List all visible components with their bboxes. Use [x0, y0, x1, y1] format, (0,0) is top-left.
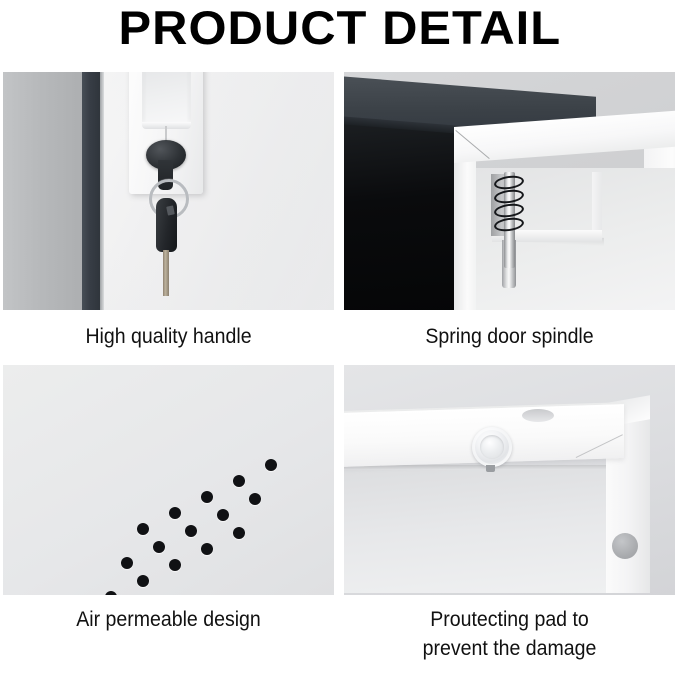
ventilation-hole	[201, 543, 213, 555]
ventilation-hole	[169, 559, 181, 571]
mounting-hole	[522, 409, 554, 422]
ventilation-hole	[233, 527, 245, 539]
ventilation-hole	[137, 575, 149, 587]
ventilation-hole	[233, 475, 245, 487]
ventilation-hole	[121, 557, 133, 569]
detail-cell-air-permeable-design: Air permeable design	[3, 365, 334, 663]
product-detail-grid: High quality handle	[0, 72, 679, 663]
frame-inner-edge	[344, 465, 608, 470]
detail-cell-protecting-pad: Proutecting pad to prevent the damage	[344, 365, 675, 663]
caption-high-quality-handle: High quality handle	[15, 310, 323, 351]
detail-row-top: High quality handle	[3, 72, 676, 351]
photo-air-permeable-design	[3, 365, 334, 595]
page-title: PRODUCT DETAIL	[118, 2, 561, 54]
ventilation-hole	[265, 459, 277, 471]
photo-spring-door-spindle	[344, 72, 675, 310]
ventilation-hole	[217, 509, 229, 521]
ventilation-hole	[137, 523, 149, 535]
detail-cell-spring-door-spindle: Spring door spindle	[344, 72, 675, 351]
frame-inner-face	[344, 465, 608, 593]
steel-panel-surface	[3, 365, 334, 595]
photo-high-quality-handle	[3, 72, 334, 310]
ventilation-hole	[169, 507, 181, 519]
brass-key-blade	[163, 250, 169, 296]
bumper-inner-dome	[480, 435, 504, 459]
caption-air-permeable-design: Air permeable design	[15, 595, 323, 634]
bumper-stem	[486, 465, 495, 472]
gray-side-pad	[612, 533, 638, 559]
ventilation-hole	[153, 541, 165, 553]
caption-spring-door-spindle: Spring door spindle	[356, 310, 664, 351]
page-header: PRODUCT DETAIL	[0, 0, 679, 72]
gray-side-panel	[3, 72, 82, 310]
ventilation-hole	[249, 493, 261, 505]
ventilation-hole	[185, 525, 197, 537]
detail-row-bottom: Air permeable design Proutecting pad to …	[3, 365, 676, 663]
caption-protecting-pad: Proutecting pad to prevent the damage	[356, 595, 664, 663]
detail-cell-high-quality-handle: High quality handle	[3, 72, 334, 351]
photo-protecting-pad	[344, 365, 675, 595]
recessed-grip	[142, 72, 191, 126]
dark-door-edge	[82, 72, 100, 310]
ventilation-hole	[201, 491, 213, 503]
